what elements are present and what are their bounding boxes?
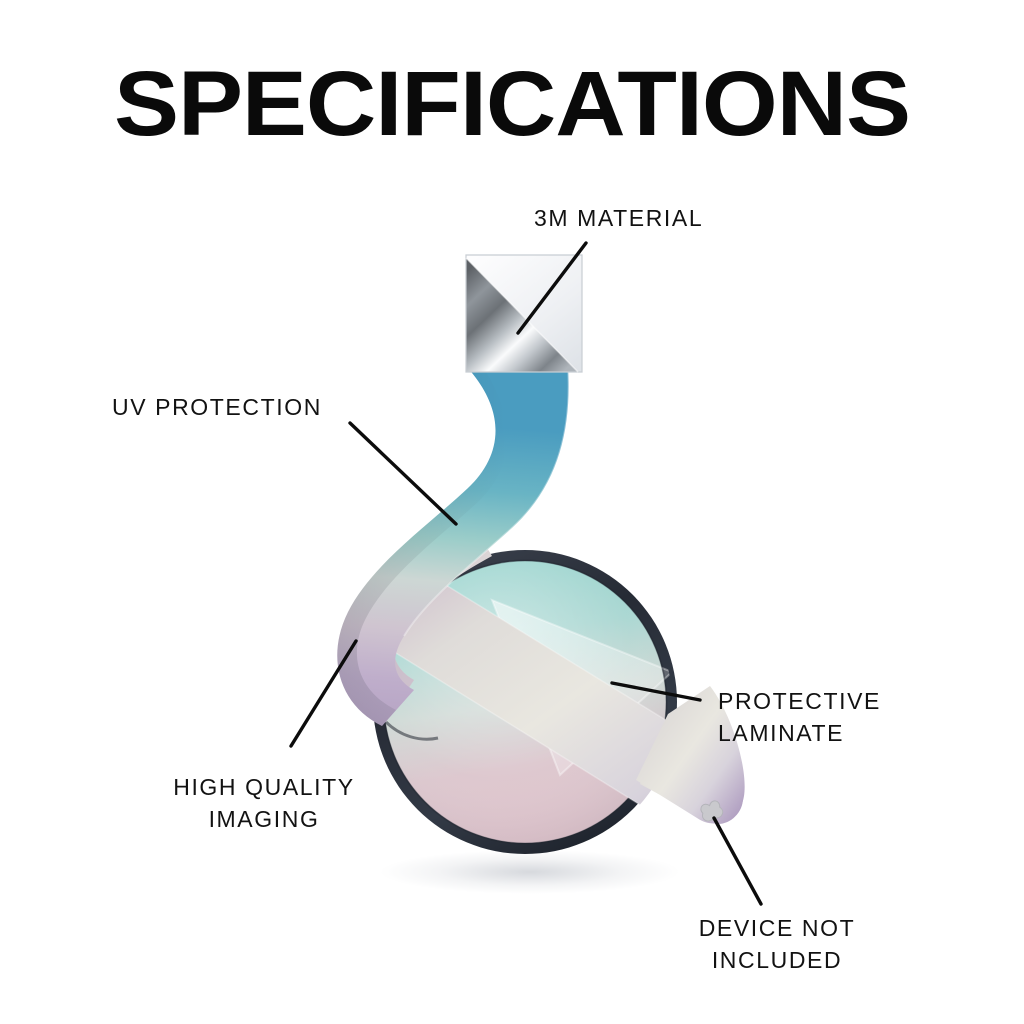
infographic-canvas: SPECIFICATIONS 3M MATERIAL UV PROTECTION… [0,0,1024,1024]
callout-label-high-quality-imaging: HIGH QUALITY IMAGING [158,772,370,835]
callout-label-device-not-included: DEVICE NOT INCLUDED [688,913,866,976]
page-title: SPECIFICATIONS [0,58,1024,150]
leader-uv-protection [350,423,456,524]
callout-label-3m-material: 3M MATERIAL [534,203,703,235]
leader-device-not-included [714,818,761,904]
drop-shadow [380,850,680,894]
callout-label-protective-laminate: PROTECTIVE LAMINATE [718,686,881,749]
callout-label-uv-protection: UV PROTECTION [112,392,322,424]
leader-high-quality-imaging [291,641,356,746]
